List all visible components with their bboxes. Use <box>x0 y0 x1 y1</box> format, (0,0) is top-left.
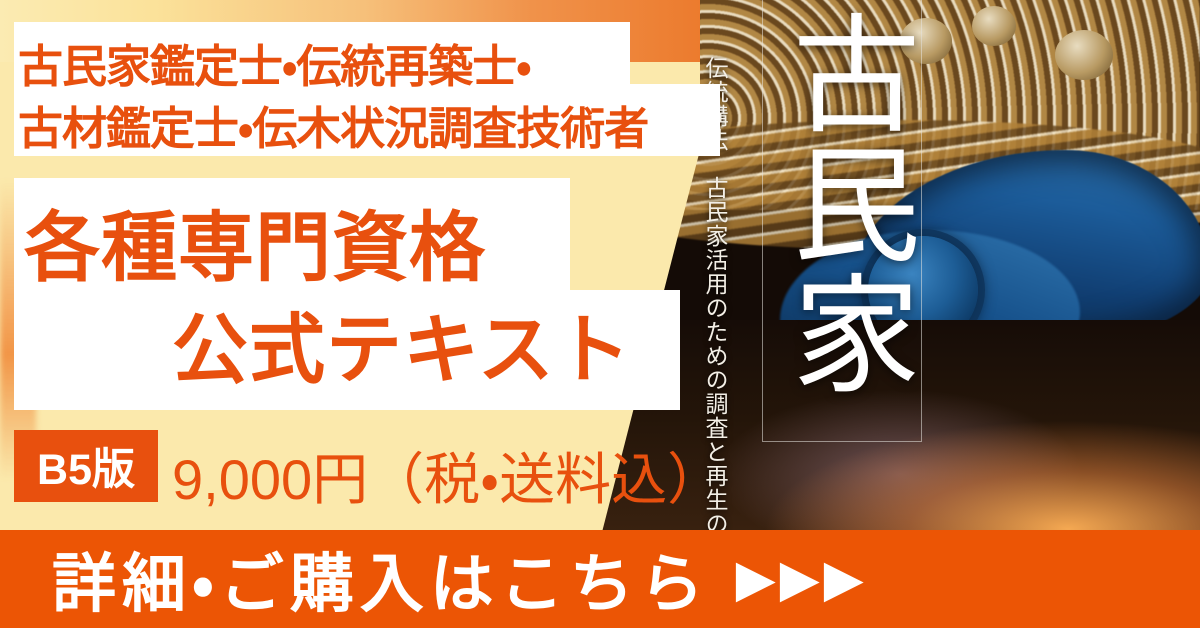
cta-label: 詳細・ご購入はこちら <box>52 533 710 625</box>
title-line-1: 各種専門資格 <box>24 186 486 296</box>
carving-nub-icon <box>1055 30 1113 80</box>
price-text: 9,000円（税・送料込） <box>172 435 723 516</box>
format-badge: B5版 <box>14 430 158 502</box>
headline-line-2: 古材鑑定士・伝木状況調査技術者 <box>18 92 648 157</box>
title-line-2: 公式テキスト <box>172 288 632 398</box>
promo-banner: 伝統構法 古民家活用のための調査と再生の 古民家 古民家鑑定士・伝統再築士・ 古… <box>0 0 1200 628</box>
book-title: 古民家 <box>770 8 912 438</box>
cta-bar[interactable]: 詳細・ご購入はこちら ▶▶▶ <box>0 530 1200 628</box>
carving-nub-icon <box>972 6 1016 46</box>
headline-line-1: 古民家鑑定士・伝統再築士・ <box>18 30 531 95</box>
triple-arrow-right-icon: ▶▶▶ <box>736 553 868 605</box>
